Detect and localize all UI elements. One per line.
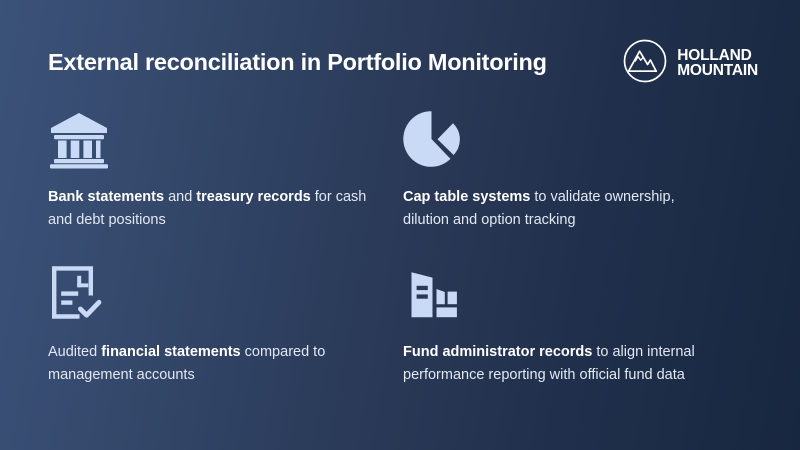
list-item-text: Cap table systems to validate ownership,… <box>403 186 723 233</box>
slide-canvas: External reconciliation in Portfolio Mon… <box>0 0 800 450</box>
list-item-bold-1: Cap table systems <box>403 189 530 205</box>
list-item-bold-1: Fund administrator records <box>403 344 592 360</box>
list-item-text: Audited financial statements compared to… <box>48 341 348 388</box>
page-title: External reconciliation in Portfolio Mon… <box>48 51 547 75</box>
list-item: Cap table systems to validate ownership,… <box>403 108 752 263</box>
bank-building-icon <box>48 108 403 170</box>
logo-wordmark: HOLLAND MOUNTAIN <box>677 48 758 78</box>
list-item-bold-1: Bank statements <box>48 189 164 205</box>
brand-logo: HOLLAND MOUNTAIN <box>622 38 758 89</box>
list-item-mid-1: Audited <box>48 344 101 360</box>
list-item-text: Fund administrator records to align inte… <box>403 341 708 388</box>
document-check-icon <box>48 263 403 325</box>
list-item: Bank statements and treasury records for… <box>48 108 403 263</box>
office-buildings-icon <box>403 263 752 325</box>
list-item-bold-2: treasury records <box>196 189 310 205</box>
reconciliation-items-grid: Bank statements and treasury records for… <box>48 108 752 388</box>
mountain-circle-logo-icon <box>622 38 668 89</box>
slide-header: External reconciliation in Portfolio Mon… <box>48 38 758 88</box>
pie-chart-exploded-icon <box>403 108 752 170</box>
list-item: Fund administrator records to align inte… <box>403 263 752 388</box>
list-item-bold-2: financial statements <box>101 344 240 360</box>
logo-line-1: HOLLAND <box>677 48 758 63</box>
list-item-text: Bank statements and treasury records for… <box>48 186 368 233</box>
list-item: Audited financial statements compared to… <box>48 263 403 388</box>
logo-line-2: MOUNTAIN <box>677 63 758 78</box>
list-item-mid-1: and <box>164 189 196 205</box>
